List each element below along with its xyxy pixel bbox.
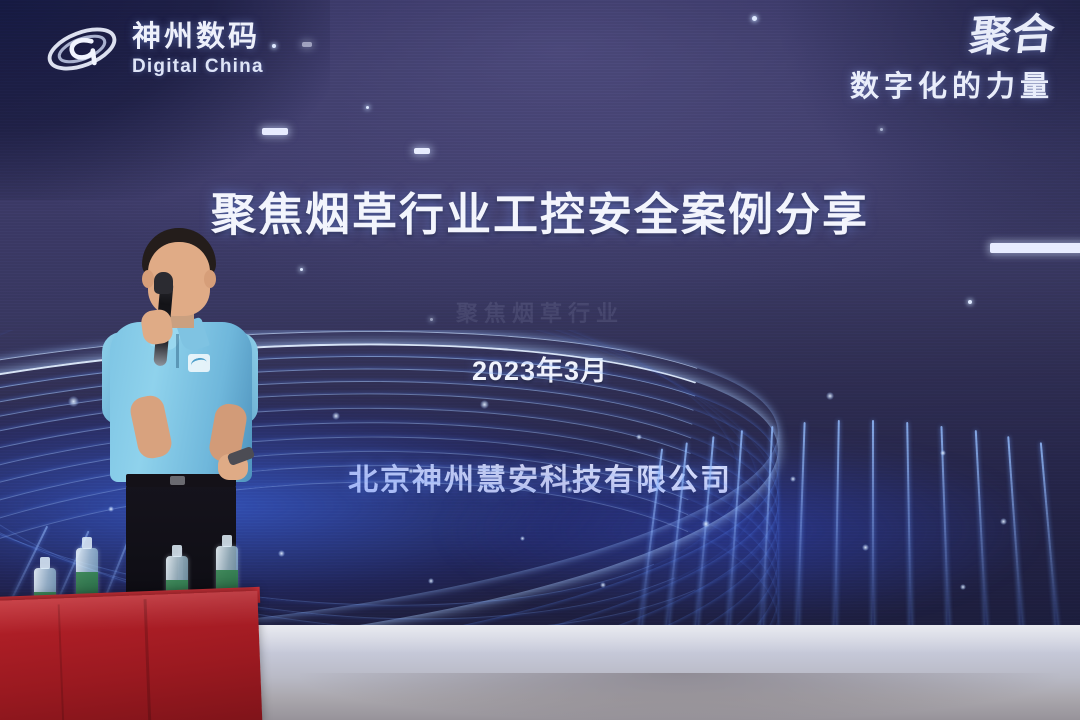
light-spark (430, 318, 433, 321)
event-slogan-main: 聚合 (846, 14, 1056, 63)
microphone-head-icon (154, 272, 173, 294)
red-table-drape (0, 591, 263, 720)
polo-chest-logo-icon (188, 354, 210, 372)
presenter-hand-holding-mic (140, 308, 174, 346)
light-spark (752, 16, 757, 21)
light-bar (414, 148, 430, 154)
light-bar (990, 243, 1080, 253)
event-slogan-sub: 数字化的力量 (850, 63, 1054, 105)
brand-name-en: Digital China (132, 57, 264, 76)
brand-logo-block: 神州数码 Digital China (42, 18, 264, 80)
conference-stage-photo: 神州数码 Digital China 聚合 数字化的力量 聚焦烟草行业工控安全案… (0, 0, 1080, 720)
light-spark (968, 300, 972, 304)
event-slogan-block: 聚合 数字化的力量 (850, 14, 1054, 105)
light-bar (262, 128, 288, 135)
light-spark (272, 44, 276, 48)
light-spark (300, 268, 303, 271)
light-spark (880, 128, 883, 131)
light-bar (302, 42, 312, 47)
light-spark (366, 106, 369, 109)
brand-name-cn: 神州数码 (132, 23, 264, 52)
digital-china-spiral-logo-icon (42, 18, 122, 80)
